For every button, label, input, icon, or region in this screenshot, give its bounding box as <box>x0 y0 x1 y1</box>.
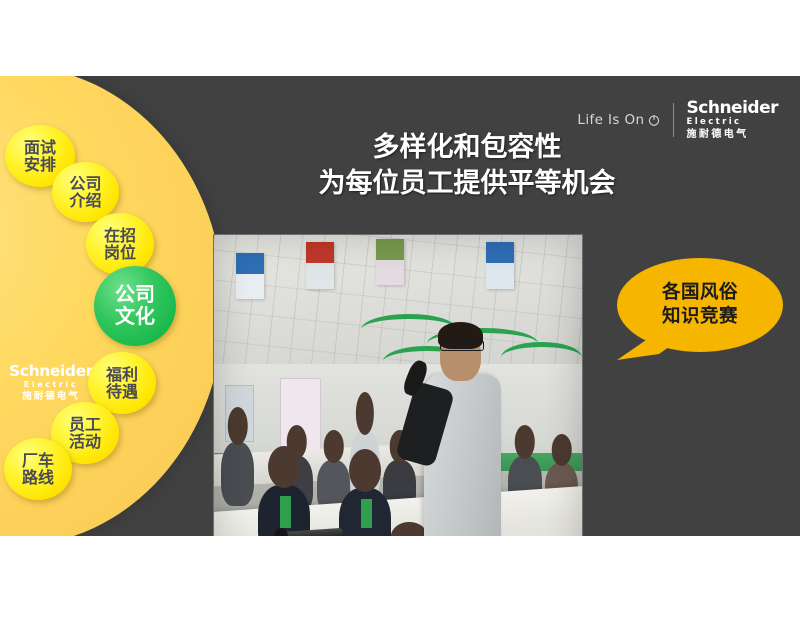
brand-sub: Electric <box>687 118 778 127</box>
title-line-2: 为每位员工提供平等机会 <box>232 166 702 202</box>
bubble-shuttle-routes[interactable]: 厂车 路线 <box>4 438 72 500</box>
bubble-company-intro[interactable]: 公司 介绍 <box>52 162 119 222</box>
slide-title: 多样化和包容性 为每位员工提供平等机会 <box>232 130 702 201</box>
bubble-label-line2: 活动 <box>69 433 101 450</box>
fan-logo-name: Schneider <box>6 364 96 380</box>
photo-vignette <box>214 235 582 536</box>
life-is-on-text: Life Is On <box>577 112 644 128</box>
bubble-label-line1: 面试 <box>24 139 56 156</box>
bubble-label-line2: 待遇 <box>106 383 138 400</box>
callout-bubble: 各国风俗 知识竞赛 <box>617 258 783 352</box>
bubble-label-line2: 安排 <box>24 156 56 173</box>
bubble-label-line2: 岗位 <box>104 244 136 261</box>
brand-name: Schneider <box>687 100 778 117</box>
callout-line-1: 各国风俗 <box>662 281 738 305</box>
title-line-1: 多样化和包容性 <box>232 130 702 166</box>
bubble-label-line2: 路线 <box>22 469 54 486</box>
power-icon <box>648 114 660 126</box>
bubble-label-line1: 公司 <box>115 284 155 306</box>
life-is-on-tagline: Life Is On <box>577 112 659 128</box>
slide-page: Schneider Electric 施耐德电气 面试 安排 公司 介绍 在招 … <box>0 0 800 618</box>
bubble-open-positions[interactable]: 在招 岗位 <box>86 213 154 275</box>
callout-group: 各国风俗 知识竞赛 <box>617 258 783 388</box>
callout-line-2: 知识竞赛 <box>662 305 738 329</box>
bubble-label-line1: 在招 <box>104 227 136 244</box>
event-photo <box>213 234 583 536</box>
bubble-label-line1: 公司 <box>69 175 101 192</box>
presentation-slide: Schneider Electric 施耐德电气 面试 安排 公司 介绍 在招 … <box>0 76 800 536</box>
fan-logo-sub: Electric <box>6 381 96 389</box>
fan-logo-chinese: 施耐德电气 <box>6 392 96 402</box>
bubble-company-culture[interactable]: 公司 文化 <box>94 266 176 346</box>
bubble-label-line2: 文化 <box>115 306 155 328</box>
bubble-label-line1: 福利 <box>106 366 138 383</box>
bubble-label-line1: 厂车 <box>22 452 54 469</box>
bubble-label-line1: 员工 <box>69 416 101 433</box>
bubble-label-line2: 介绍 <box>69 192 101 209</box>
